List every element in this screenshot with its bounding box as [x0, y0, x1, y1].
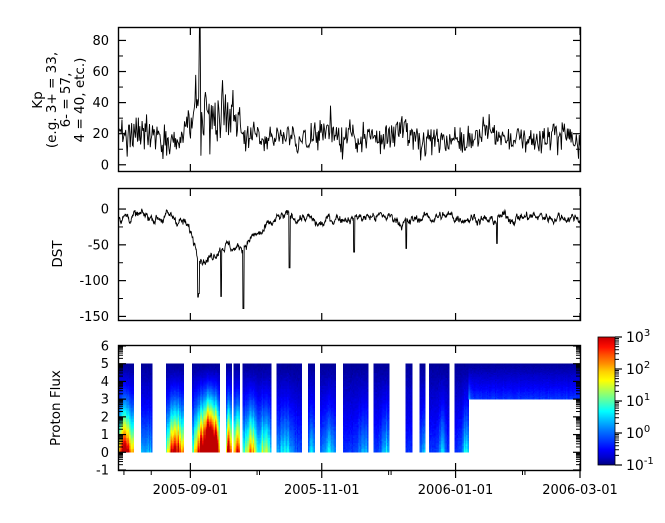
kp-y-tick-label: 0: [101, 158, 109, 173]
spectrogram-cell: [182, 451, 184, 453]
spectrogram-cell: [133, 451, 135, 453]
kp-y-tick-label: 80: [92, 34, 109, 49]
dst-y-tick-label: -100: [79, 274, 109, 289]
kp-y-tick-label: 40: [92, 96, 109, 111]
spectrogram-cell: [218, 451, 220, 453]
spectrogram-cell: [151, 451, 153, 453]
kp-y-tick-label: 20: [92, 127, 109, 142]
spectrogram-cell: [239, 451, 241, 453]
kp-y-tick-label: 60: [92, 65, 109, 80]
kp-axis-label-line: 4 = 40, etc.): [72, 58, 88, 143]
scientific-plot: 020406080 Kp(e.g. 3+ = 33,6- = 57,4 = 40…: [0, 0, 665, 523]
figure-root: 020406080 Kp(e.g. 3+ = 33,6- = 57,4 = 40…: [0, 0, 665, 523]
dst-y-tick-label: -50: [88, 238, 109, 253]
spectrogram-cell: [230, 451, 232, 453]
dst-y-tick-label: 0: [101, 203, 109, 218]
dst-y-tick-label: -150: [79, 310, 109, 325]
dst-axis-label-text: DST: [50, 240, 66, 268]
